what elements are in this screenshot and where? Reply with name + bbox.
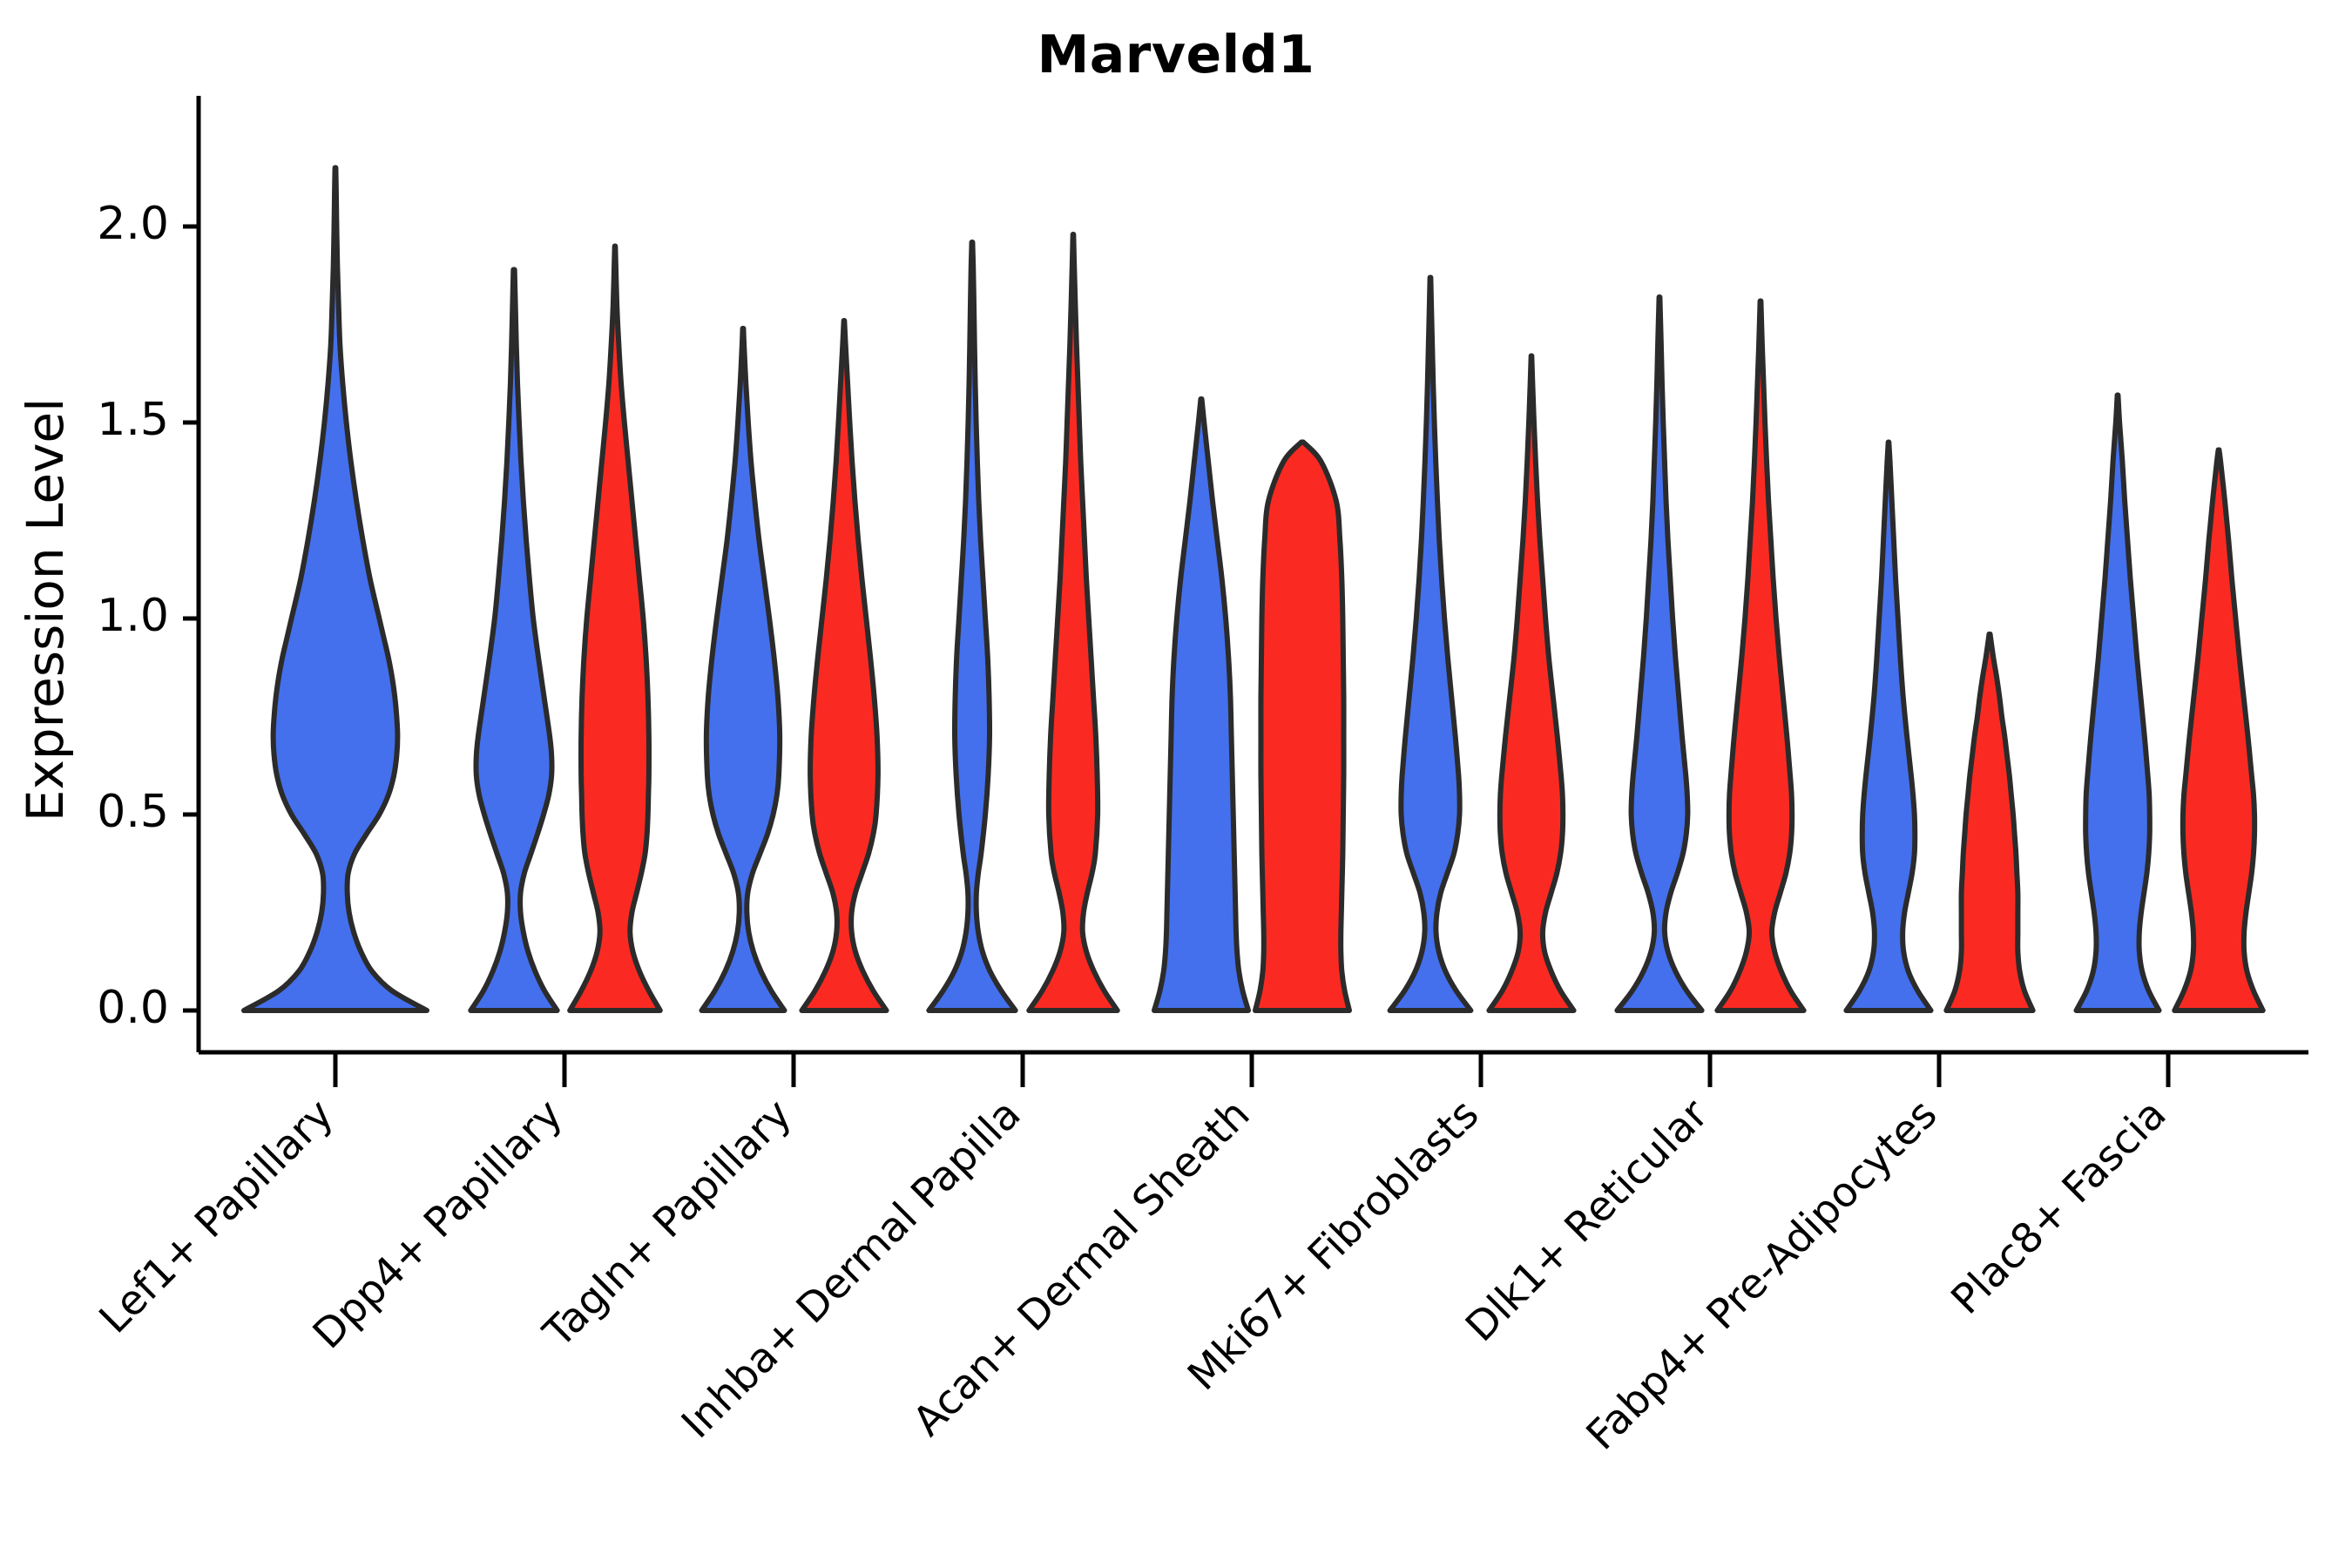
violin-group_a-7[interactable] xyxy=(1846,443,1930,1011)
y-tick-label: 1.5 xyxy=(97,394,169,446)
x-tick-label: Lef1+ Papillary xyxy=(91,1091,343,1343)
y-tick-label: 2.0 xyxy=(97,198,169,250)
violin-group_a-4[interactable] xyxy=(1154,399,1248,1010)
chart-canvas: 0.00.51.01.52.0 Lef1+ PapillaryDpp4+ Pap… xyxy=(0,0,2352,1568)
y-tick-group: 0.00.51.01.52.0 xyxy=(97,198,199,1034)
violin-group_b-8[interactable] xyxy=(2174,450,2263,1011)
violin-group_a-6[interactable] xyxy=(1617,297,1701,1010)
violin-group_b-5[interactable] xyxy=(1489,356,1573,1011)
x-tick-label: TagIn+ Papillary xyxy=(534,1091,801,1358)
violin-group_b-7[interactable] xyxy=(1946,634,2032,1010)
violin-group_b-1[interactable] xyxy=(570,247,660,1011)
violin-group_a-8[interactable] xyxy=(2076,395,2159,1011)
x-tick-label: Plac8+ Fascia xyxy=(1943,1091,2176,1324)
violin-group_b-3[interactable] xyxy=(1029,234,1118,1010)
y-tick-label: 0.5 xyxy=(97,786,169,838)
violin-group_a-0[interactable] xyxy=(244,168,427,1011)
violin-group_a-5[interactable] xyxy=(1390,278,1471,1011)
violin-group_b-4[interactable] xyxy=(1255,443,1349,1011)
y-tick-label: 0.0 xyxy=(97,982,169,1034)
violins-group xyxy=(244,168,2263,1011)
violin-group_a-3[interactable] xyxy=(929,242,1015,1010)
violin-plot-figure: Marveld1 0.00.51.01.52.0 Lef1+ Papillary… xyxy=(0,0,2352,1568)
x-tick-label: Dpp4+ Papillary xyxy=(304,1091,572,1359)
violin-group_a-2[interactable] xyxy=(701,328,784,1010)
violin-group_a-1[interactable] xyxy=(470,270,557,1011)
y-axis-title: Expression Level xyxy=(16,398,75,821)
x-tick-label: Dlk1+ Reticular xyxy=(1456,1090,1718,1351)
violin-group_b-2[interactable] xyxy=(801,321,886,1010)
x-tick-group: Lef1+ PapillaryDpp4+ PapillaryTagIn+ Pap… xyxy=(91,1052,2176,1459)
violin-group_b-6[interactable] xyxy=(1717,301,1803,1011)
y-tick-label: 1.0 xyxy=(97,590,169,642)
